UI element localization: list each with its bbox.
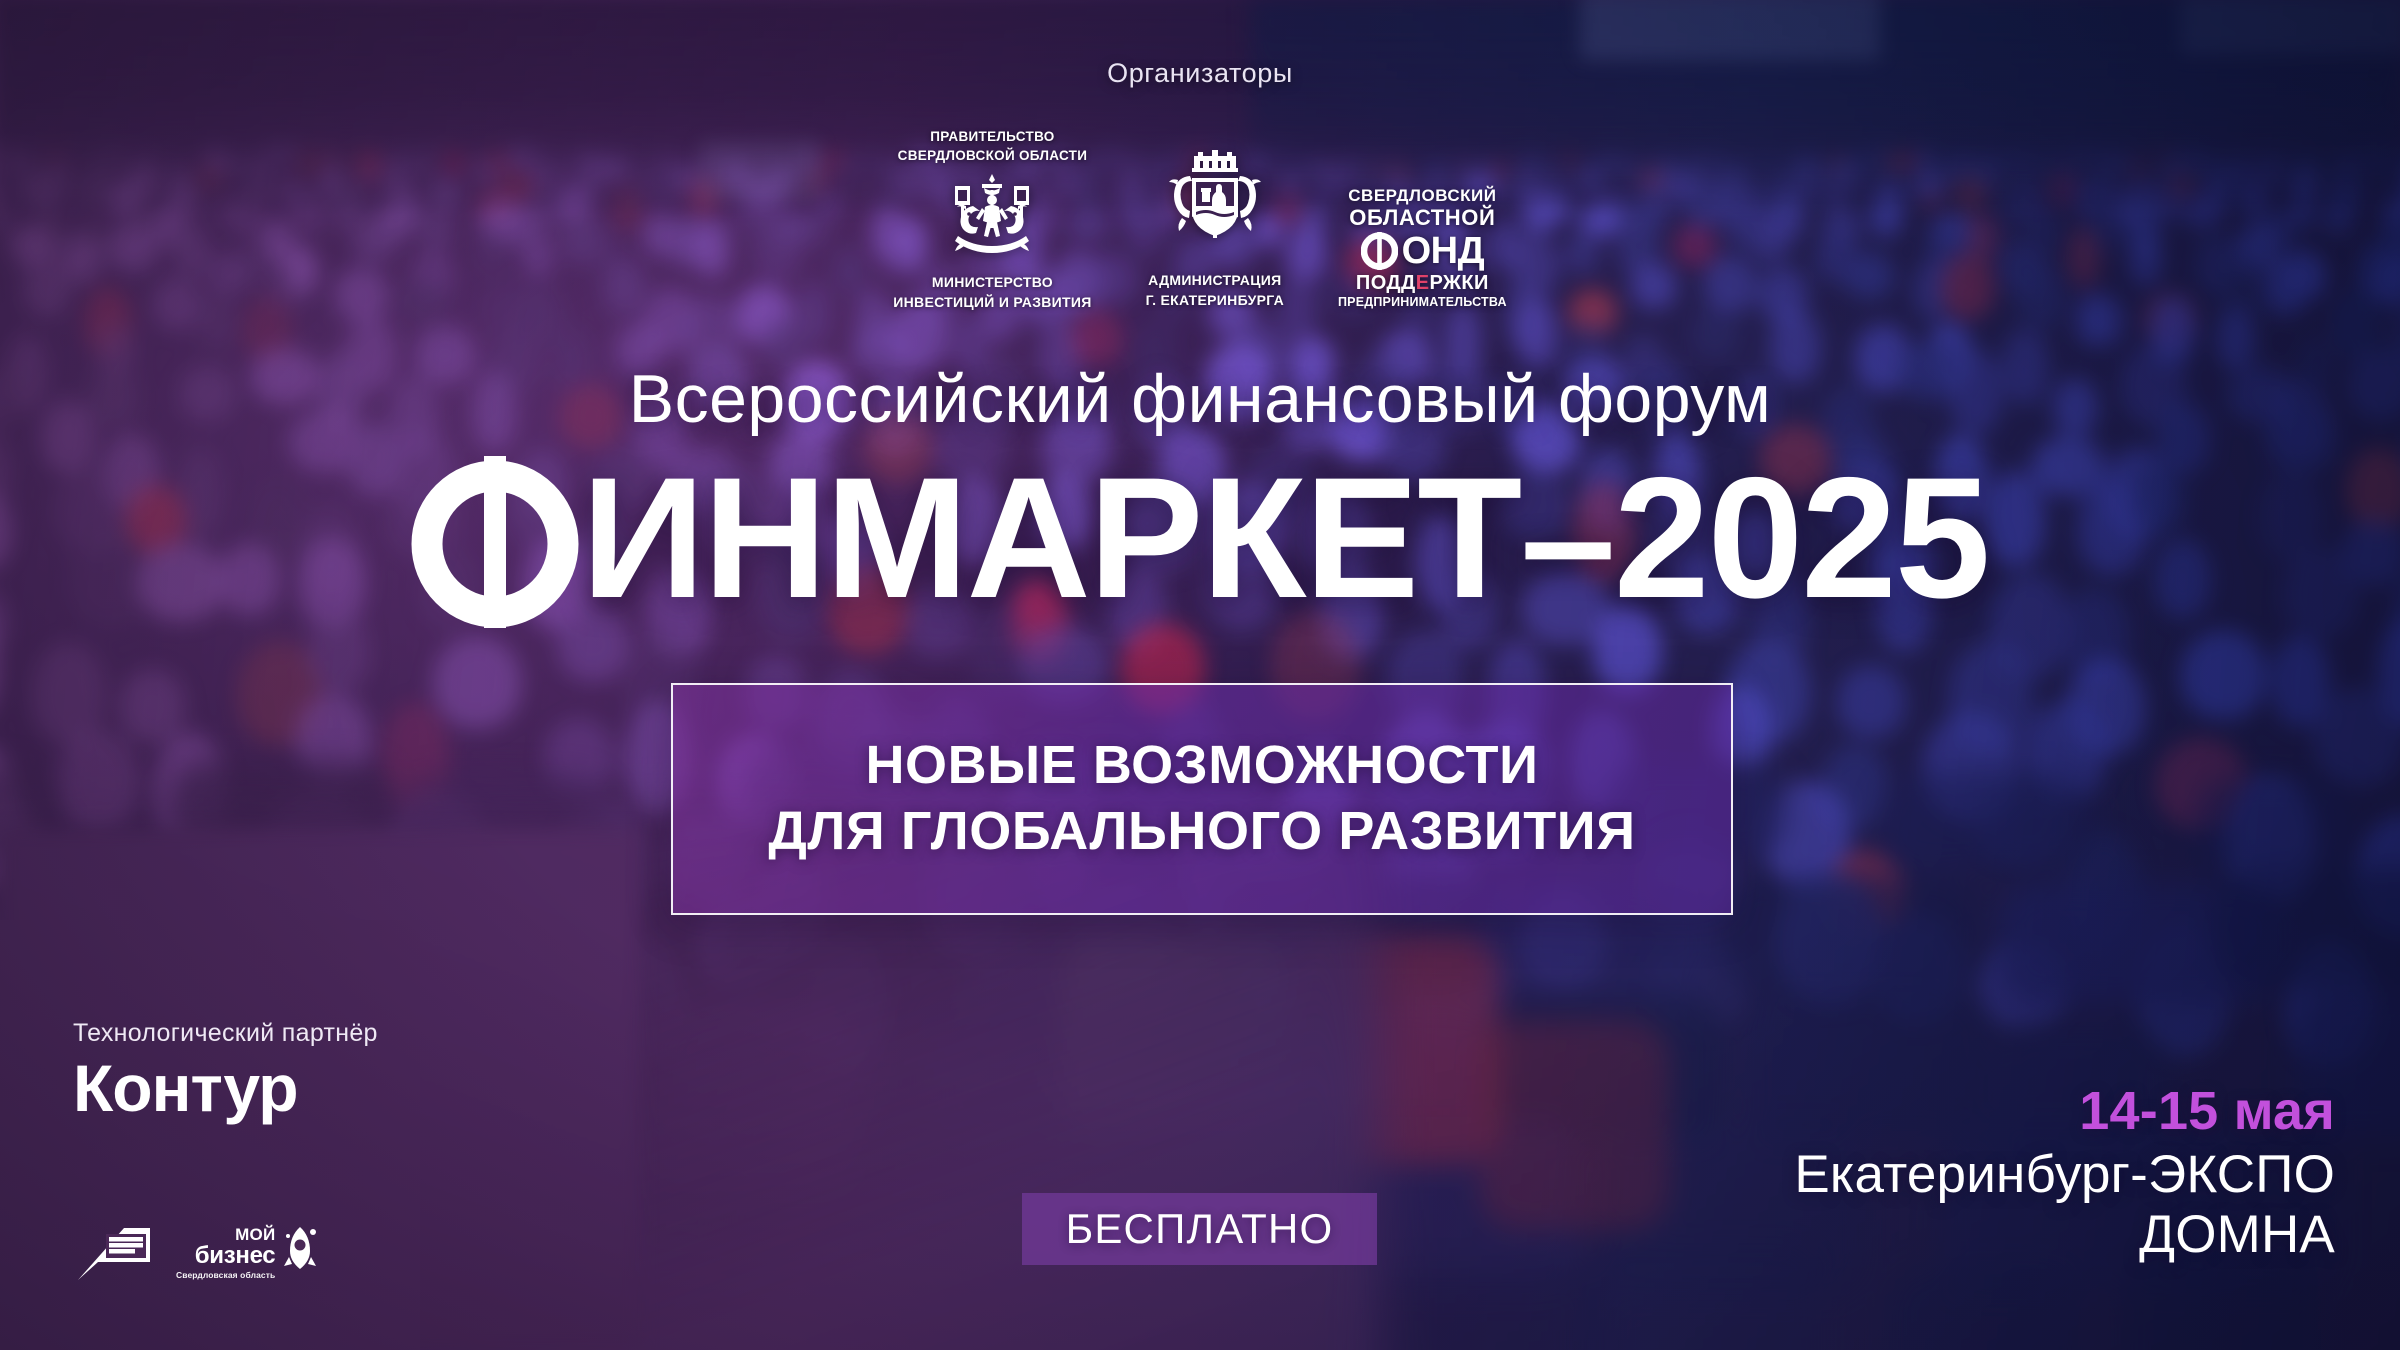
phi-mark-icon [1361, 232, 1398, 270]
poster-content: Организаторы ПРАВИТЕЛЬСТВО СВЕРДЛОВСКОЙ … [0, 0, 2400, 1350]
my-business-line-1: МОЙ [235, 1226, 275, 1243]
date-venue-block: 14-15 мая Екатеринбург-ЭКСПО ДОМНА [1794, 1082, 2335, 1265]
rocket-pin-icon [282, 1225, 318, 1282]
tech-partner-label: Технологический партнёр [73, 1019, 378, 1048]
fund-line-4-prefix: ПОДД [1356, 272, 1416, 294]
venue-line-1: Екатеринбург-ЭКСПО [1794, 1145, 2335, 1205]
fund-line-1: СВЕРДЛОВСКИЙ [1348, 187, 1496, 204]
fund-line-3-text: ОНД [1402, 232, 1485, 270]
organizer-administration-ekaterinburg: АДМИНИСТРАЦИЯ Г. ЕКАТЕРИНБУРГА [1146, 143, 1284, 312]
fund-line-5: ПРЕДПРИНИМАТЕЛЬСТВА [1338, 296, 1507, 309]
coat-of-arms-sverdlovsk-oblast-icon [933, 170, 1051, 267]
organizer-2-bottom-text: АДМИНИСТРАЦИЯ Г. ЕКАТЕРИНБУРГА [1146, 271, 1284, 310]
fund-line-4: ПОДДЕРЖКИ [1356, 273, 1489, 293]
organizer-sverdlovsk-fund: СВЕРДЛОВСКИЙ ОБЛАСТНОЙ ОНД ПОДДЕРЖКИ ПРЕ… [1338, 187, 1507, 313]
subtitle-box: НОВЫЕ ВОЗМОЖНОСТИ ДЛЯ ГЛОБАЛЬНОГО РАЗВИТ… [671, 683, 1733, 915]
organizer-1-top-line-2: СВЕРДЛОВСКОЙ ОБЛАСТИ [898, 147, 1088, 166]
my-business-logo: МОЙ бизнес Свердловская область [176, 1225, 318, 1282]
organizer-2-bottom-line-1: АДМИНИСТРАЦИЯ [1146, 271, 1284, 291]
organizers-label: Организаторы [0, 58, 2400, 89]
fund-line-2: ОБЛАСТНОЙ [1349, 207, 1495, 229]
organizer-1-bottom-line-2: ИНВЕСТИЦИЙ И РАЗВИТИЯ [893, 293, 1091, 313]
fund-line-3: ОНД [1361, 232, 1485, 270]
organizer-2-bottom-line-2: Г. ЕКАТЕРИНБУРГА [1146, 291, 1284, 311]
organizer-government-sverdlovsk: ПРАВИТЕЛЬСТВО СВЕРДЛОВСКОЙ ОБЛАСТИ [893, 128, 1091, 312]
small-logos-row: МОЙ бизнес Свердловская область [76, 1222, 318, 1284]
my-business-line-2: бизнес [195, 1244, 276, 1268]
my-business-text: МОЙ бизнес Свердловская область [176, 1226, 275, 1280]
coat-of-arms-ekaterinburg-icon [1156, 148, 1274, 265]
organizer-1-bottom-line-1: МИНИСТЕРСТВО [893, 273, 1091, 293]
organizers-row: ПРАВИТЕЛЬСТВО СВЕРДЛОВСКОЙ ОБЛАСТИ [0, 128, 2400, 312]
organizer-1-top-text: ПРАВИТЕЛЬСТВО СВЕРДЛОВСКОЙ ОБЛАСТИ [898, 128, 1088, 165]
subtitle-line-2: ДЛЯ ГЛОБАЛЬНОГО РАЗВИТИЯ [768, 799, 1635, 865]
tech-partner-logo-kontur: Контур [73, 1055, 298, 1121]
national-projects-russia-icon [76, 1222, 150, 1284]
organizer-1-top-line-1: ПРАВИТЕЛЬСТВО [898, 128, 1088, 147]
poster-supertitle: Всероссийский финансовый форум [0, 360, 2400, 438]
free-badge: БЕСПЛАТНО [1022, 1193, 1377, 1265]
poster-main-title-text: ИНМАРКЕТ–2025 [581, 452, 1988, 624]
event-poster: Организаторы ПРАВИТЕЛЬСТВО СВЕРДЛОВСКОЙ … [0, 0, 2400, 1350]
poster-main-title: ИНМАРКЕТ–2025 [0, 452, 2400, 624]
organizer-1-bottom-text: МИНИСТЕРСТВО ИНВЕСТИЦИЙ И РАЗВИТИЯ [893, 273, 1091, 312]
fund-wordmark: СВЕРДЛОВСКИЙ ОБЛАСТНОЙ ОНД ПОДДЕРЖКИ ПРЕ… [1338, 187, 1507, 309]
fund-line-4-suffix: РЖКИ [1429, 272, 1488, 294]
fund-line-4-accent: Е [1416, 272, 1430, 294]
venue-line-2: ДОМНА [1794, 1205, 2335, 1265]
phi-mark-icon [411, 456, 579, 628]
event-dates: 14-15 мая [1794, 1082, 2335, 1141]
my-business-line-3: Свердловская область [176, 1271, 275, 1280]
subtitle-line-1: НОВЫЕ ВОЗМОЖНОСТИ [865, 733, 1538, 799]
